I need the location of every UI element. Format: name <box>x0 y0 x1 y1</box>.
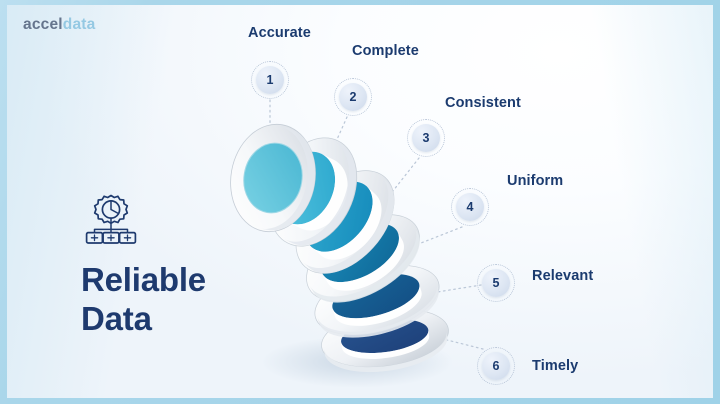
step-label-1: Accurate <box>248 25 311 41</box>
marker-number: 2 <box>339 83 367 111</box>
step-label-2: Complete <box>352 43 419 59</box>
step-marker-1[interactable]: 1 <box>251 61 289 99</box>
headline-line-2: Data <box>81 300 271 339</box>
step-marker-3[interactable]: 3 <box>407 119 445 157</box>
marker-number: 5 <box>482 269 510 297</box>
step-label-4: Uniform <box>507 173 563 189</box>
step-marker-4[interactable]: 4 <box>451 188 489 226</box>
step-label-5: Relevant <box>532 268 593 284</box>
step-label-6: Timely <box>532 358 578 374</box>
slide-canvas: acceldata <box>0 0 720 404</box>
left-title-block: Reliable Data <box>81 191 271 339</box>
logo-text-data: data <box>63 16 96 33</box>
marker-number: 4 <box>456 193 484 221</box>
acceldata-logo: acceldata <box>23 16 95 34</box>
page-title: Reliable Data <box>81 261 271 339</box>
step-marker-5[interactable]: 5 <box>477 264 515 302</box>
marker-number: 3 <box>412 124 440 152</box>
step-marker-2[interactable]: 2 <box>334 78 372 116</box>
step-marker-6[interactable]: 6 <box>477 347 515 385</box>
slide-panel: acceldata <box>7 5 713 398</box>
step-label-3: Consistent <box>445 95 521 111</box>
logo-text-accel: accel <box>23 16 63 33</box>
marker-number: 1 <box>256 66 284 94</box>
gear-analytics-nodes-icon <box>81 191 141 249</box>
marker-number: 6 <box>482 352 510 380</box>
headline-line-1: Reliable <box>81 261 206 298</box>
